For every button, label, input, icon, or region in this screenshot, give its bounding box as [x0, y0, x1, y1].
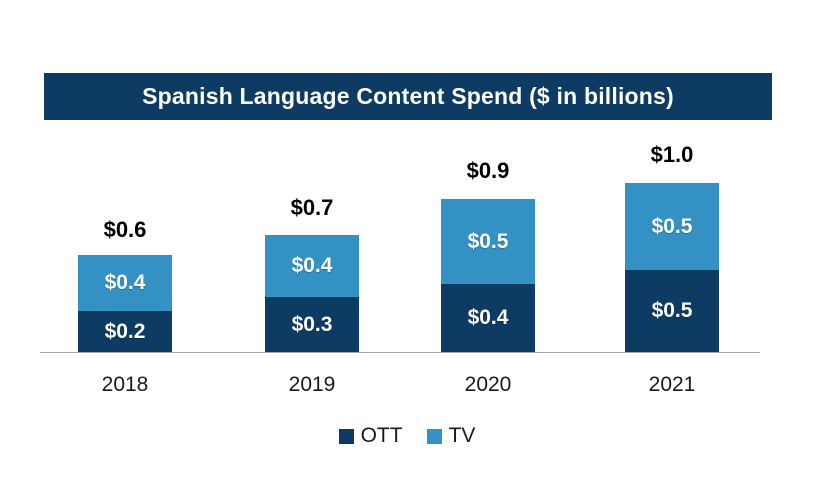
bar-group-2020: $0.9 $0.5 $0.4 2020 [441, 0, 535, 484]
bar-segment-ott[interactable]: $0.5 [625, 270, 719, 352]
bar-segment-ott[interactable]: $0.4 [441, 284, 535, 352]
legend-label-ott: OTT [361, 424, 403, 448]
bar-segment-label-ott: $0.5 [652, 299, 693, 323]
x-axis-tick-label: 2018 [78, 373, 172, 397]
bar-segment-label-tv: $0.4 [292, 254, 333, 278]
x-axis-tick-label: 2019 [265, 373, 359, 397]
bar-segment-tv[interactable]: $0.4 [78, 255, 172, 311]
plot-area: $0.6 $0.4 $0.2 2018 $0.7 $0.4 $0.3 [0, 0, 814, 484]
bar-segment-label-ott: $0.2 [105, 320, 146, 344]
bar-total-label: $0.6 [78, 217, 172, 243]
bar-segment-label-tv: $0.5 [652, 215, 693, 239]
legend-swatch-icon [427, 429, 442, 444]
legend-swatch-icon [339, 429, 354, 444]
legend-item-ott[interactable]: OTT [339, 424, 403, 448]
bar-segment-ott[interactable]: $0.3 [265, 297, 359, 352]
legend-label-tv: TV [449, 424, 476, 448]
bar-segment-label-tv: $0.4 [105, 271, 146, 295]
bar-group-2018: $0.6 $0.4 $0.2 2018 [78, 0, 172, 484]
bar-stack[interactable]: $0.5 $0.4 [441, 199, 535, 352]
bar-stack[interactable]: $0.4 $0.3 [265, 235, 359, 352]
legend-item-tv[interactable]: TV [427, 424, 476, 448]
bar-segment-label-ott: $0.3 [292, 313, 333, 337]
chart-legend: OTT TV [0, 424, 814, 448]
bar-segment-label-tv: $0.5 [468, 230, 509, 254]
bar-total-label: $1.0 [625, 142, 719, 168]
x-axis-tick-label: 2021 [625, 373, 719, 397]
bar-segment-tv[interactable]: $0.5 [441, 199, 535, 284]
x-axis-tick-label: 2020 [441, 373, 535, 397]
bar-total-label: $0.7 [265, 195, 359, 221]
bar-group-2019: $0.7 $0.4 $0.3 2019 [265, 0, 359, 484]
bar-segment-label-ott: $0.4 [468, 306, 509, 330]
bar-segment-ott[interactable]: $0.2 [78, 311, 172, 352]
bar-total-label: $0.9 [441, 158, 535, 184]
bar-segment-tv[interactable]: $0.5 [625, 183, 719, 270]
bar-segment-tv[interactable]: $0.4 [265, 235, 359, 297]
bar-stack[interactable]: $0.5 $0.5 [625, 183, 719, 352]
chart-container: Spanish Language Content Spend ($ in bil… [0, 0, 814, 484]
bar-stack[interactable]: $0.4 $0.2 [78, 255, 172, 352]
bar-group-2021: $1.0 $0.5 $0.5 2021 [625, 0, 719, 484]
